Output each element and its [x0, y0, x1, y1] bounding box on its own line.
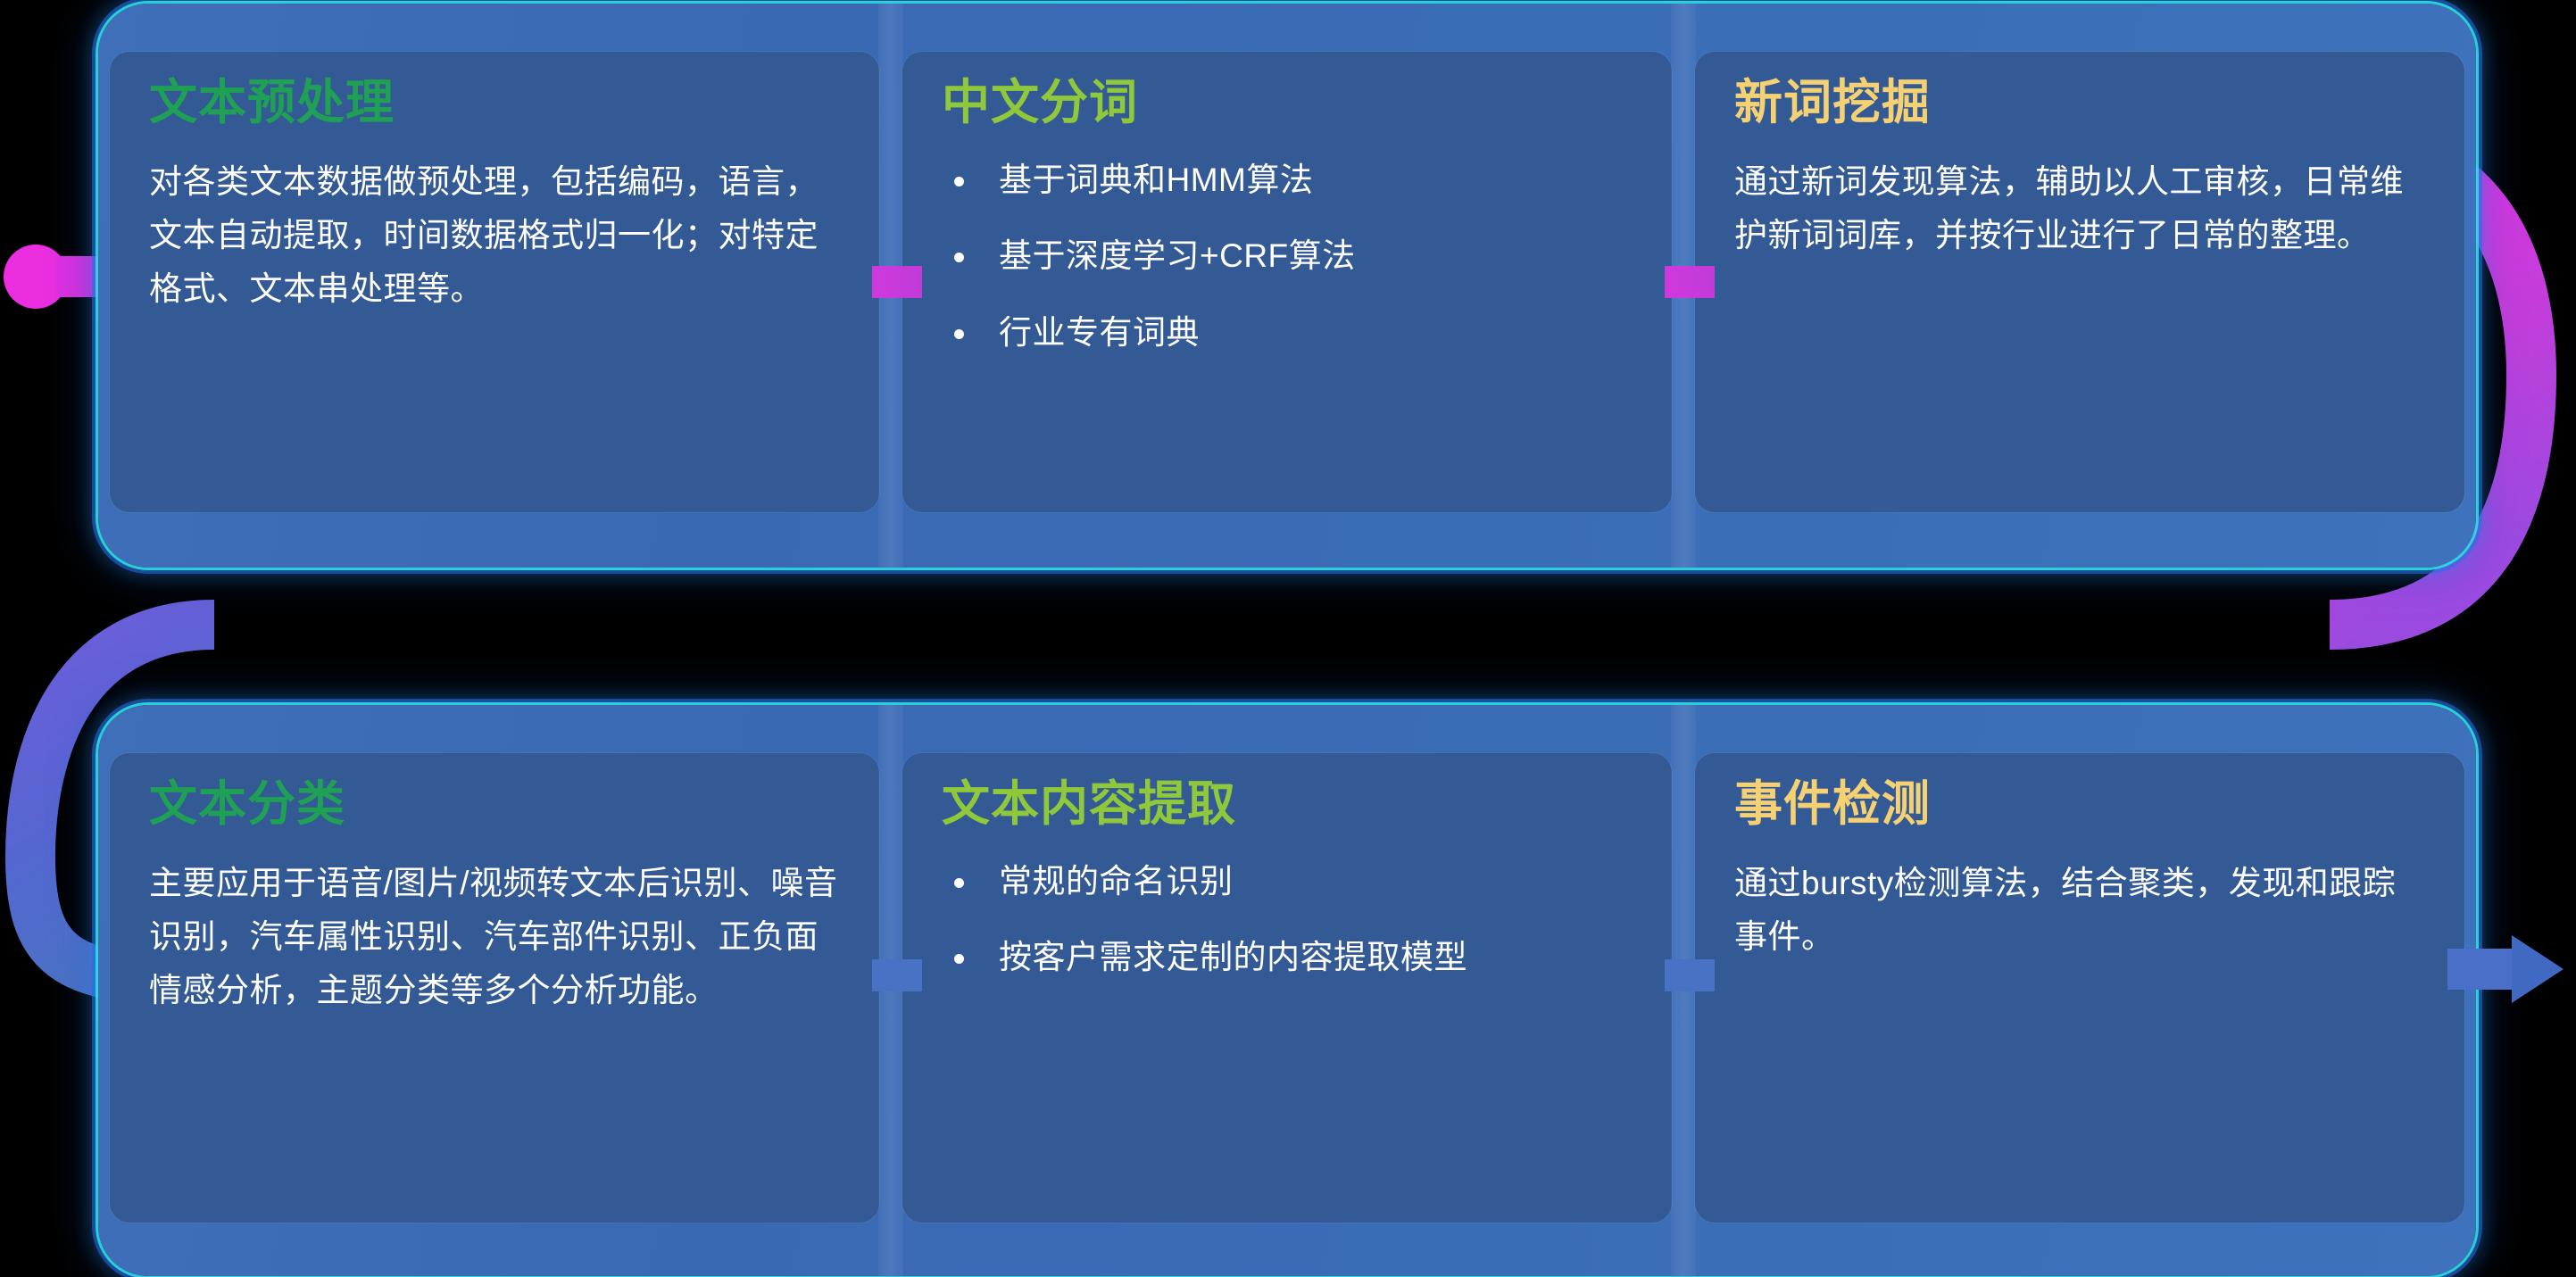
arrow-right-icon: [2512, 935, 2564, 1003]
card-title: 文本分类: [149, 776, 840, 833]
slot-text-classification: 文本分类 主要应用于语音/图片/视频转文本后识别、噪音识别，汽车属性识别、汽车部…: [98, 705, 891, 1276]
card-title: 事件检测: [1734, 776, 2425, 833]
card-paragraph: 对各类文本数据做预处理，包括编码，语言，文本自动提取，时间数据格式归一化；对特定…: [149, 155, 840, 316]
slot-new-word-mining: 新词挖掘 通过新词发现算法，辅助以人工审核，日常维护新词词库，并按行业进行了日常…: [1683, 4, 2476, 568]
list-item: 基于词典和HMM算法: [942, 155, 1633, 205]
card-paragraph: 通过新词发现算法，辅助以人工审核，日常维护新词词库，并按行业进行了日常的整理。: [1734, 155, 2425, 262]
list-item: 基于深度学习+CRF算法: [942, 231, 1633, 281]
card-title: 新词挖掘: [1734, 75, 2425, 132]
slot-text-preprocessing: 文本预处理 对各类文本数据做预处理，包括编码，语言，文本自动提取，时间数据格式归…: [98, 4, 891, 568]
flow-end-bar-icon: [2447, 949, 2519, 990]
card-bullet-list: 常规的命名识别 按客户需求定制的内容提取模型: [942, 857, 1633, 983]
slot-event-detection: 事件检测 通过bursty检测算法，结合聚类，发现和跟踪事件。: [1683, 705, 2476, 1276]
slot-chinese-word-segmentation: 中文分词 基于词典和HMM算法 基于深度学习+CRF算法 行业专有词典: [891, 4, 1683, 568]
diagram-canvas: 文本预处理 对各类文本数据做预处理，包括编码，语言，文本自动提取，时间数据格式归…: [0, 0, 2576, 1277]
card-new-word-mining[interactable]: 新词挖掘 通过新词发现算法，辅助以人工审核，日常维护新词词库，并按行业进行了日常…: [1695, 52, 2464, 512]
list-item: 按客户需求定制的内容提取模型: [942, 933, 1633, 983]
card-text-classification[interactable]: 文本分类 主要应用于语音/图片/视频转文本后识别、噪音识别，汽车属性识别、汽车部…: [110, 753, 879, 1223]
list-item: 常规的命名识别: [942, 857, 1633, 907]
card-title: 文本内容提取: [942, 776, 1633, 833]
card-bullet-list: 基于词典和HMM算法 基于深度学习+CRF算法 行业专有词典: [942, 155, 1633, 358]
card-title: 中文分词: [942, 75, 1633, 132]
list-item: 行业专有词典: [942, 308, 1633, 358]
card-text-content-extraction[interactable]: 文本内容提取 常规的命名识别 按客户需求定制的内容提取模型: [902, 753, 1672, 1223]
card-text-preprocessing[interactable]: 文本预处理 对各类文本数据做预处理，包括编码，语言，文本自动提取，时间数据格式归…: [110, 52, 879, 512]
card-chinese-word-segmentation[interactable]: 中文分词 基于词典和HMM算法 基于深度学习+CRF算法 行业专有词典: [902, 52, 1672, 512]
connector-chip-5-6: [1665, 959, 1715, 991]
card-event-detection[interactable]: 事件检测 通过bursty检测算法，结合聚类，发现和跟踪事件。: [1695, 753, 2464, 1223]
row-panel-1: 文本预处理 对各类文本数据做预处理，包括编码，语言，文本自动提取，时间数据格式归…: [98, 4, 2476, 568]
row-panel-2: 文本分类 主要应用于语音/图片/视频转文本后识别、噪音识别，汽车属性识别、汽车部…: [98, 705, 2476, 1276]
connector-chip-4-5: [872, 959, 922, 991]
connector-chip-2-3: [1665, 266, 1715, 298]
card-paragraph: 通过bursty检测算法，结合聚类，发现和跟踪事件。: [1734, 857, 2425, 964]
card-paragraph: 主要应用于语音/图片/视频转文本后识别、噪音识别，汽车属性识别、汽车部件识别、正…: [149, 857, 840, 1017]
connector-chip-1-2: [872, 266, 922, 298]
slot-text-content-extraction: 文本内容提取 常规的命名识别 按客户需求定制的内容提取模型: [891, 705, 1683, 1276]
card-title: 文本预处理: [149, 75, 840, 132]
